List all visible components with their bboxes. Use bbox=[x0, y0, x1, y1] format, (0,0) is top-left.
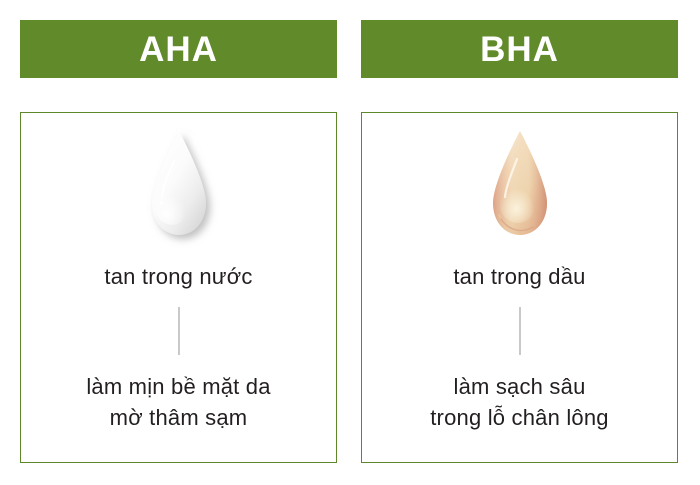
header-bar-aha: AHA bbox=[20, 20, 337, 78]
solubility-text-bha: tan trong dầu bbox=[362, 263, 677, 291]
column-bha: BHA bbox=[361, 0, 678, 485]
oil-droplet-icon bbox=[489, 129, 551, 239]
header-title-bha: BHA bbox=[480, 32, 559, 67]
comparison-infographic: AHA bbox=[0, 0, 700, 485]
water-droplet-icon bbox=[148, 129, 210, 239]
benefit-line-1-aha: làm mịn bề mặt da bbox=[21, 371, 336, 402]
benefit-line-1-bha: làm sạch sâu bbox=[362, 371, 677, 402]
text-block-bha: tan trong dầu làm sạch sâu trong lỗ chân… bbox=[362, 263, 677, 433]
header-bar-bha: BHA bbox=[361, 20, 678, 78]
benefit-text-bha: làm sạch sâu trong lỗ chân lông bbox=[362, 371, 677, 433]
droplet-wrap-bha bbox=[362, 129, 677, 253]
divider-line-aha bbox=[178, 307, 180, 355]
panel-bha: tan trong dầu làm sạch sâu trong lỗ chân… bbox=[361, 112, 678, 463]
benefit-text-aha: làm mịn bề mặt da mờ thâm sạm bbox=[21, 371, 336, 433]
droplet-wrap-aha bbox=[21, 129, 336, 253]
benefit-line-2-aha: mờ thâm sạm bbox=[21, 402, 336, 433]
divider-line-bha bbox=[519, 307, 521, 355]
text-block-aha: tan trong nước làm mịn bề mặt da mờ thâm… bbox=[21, 263, 336, 433]
header-title-aha: AHA bbox=[139, 32, 218, 67]
panel-aha: tan trong nước làm mịn bề mặt da mờ thâm… bbox=[20, 112, 337, 463]
column-aha: AHA bbox=[20, 0, 337, 485]
benefit-line-2-bha: trong lỗ chân lông bbox=[362, 402, 677, 433]
solubility-text-aha: tan trong nước bbox=[21, 263, 336, 291]
